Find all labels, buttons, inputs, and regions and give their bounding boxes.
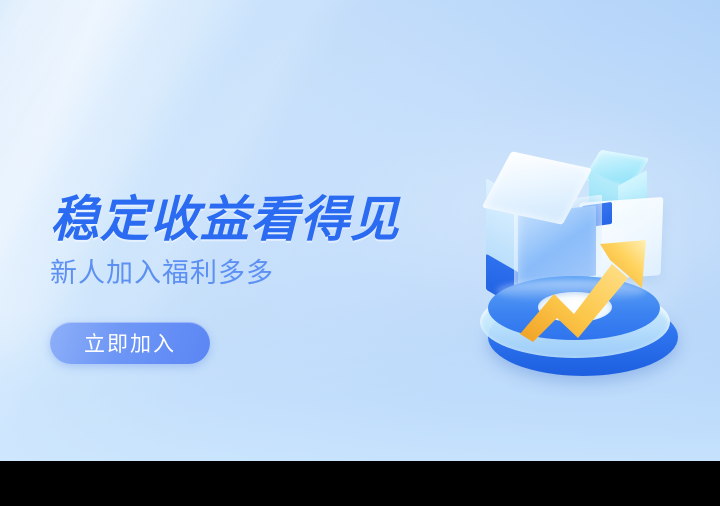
arrow-shaft [520,264,628,342]
growth-podium-3d-illustration [466,148,696,386]
banner-copy: 稳定收益看得见 新人加入福利多多 [50,196,470,289]
light-ray-decoration [0,0,345,374]
join-now-button[interactable]: 立即加入 [50,322,210,364]
banner-headline: 稳定收益看得见 [50,196,470,246]
screenshot-stage: 稳定收益看得见 新人加入福利多多 立即加入 [0,0,720,506]
orange-growth-arrow [516,230,656,342]
promo-banner[interactable]: 稳定收益看得见 新人加入福利多多 立即加入 [0,0,720,461]
banner-subheadline: 新人加入福利多多 [50,259,470,289]
